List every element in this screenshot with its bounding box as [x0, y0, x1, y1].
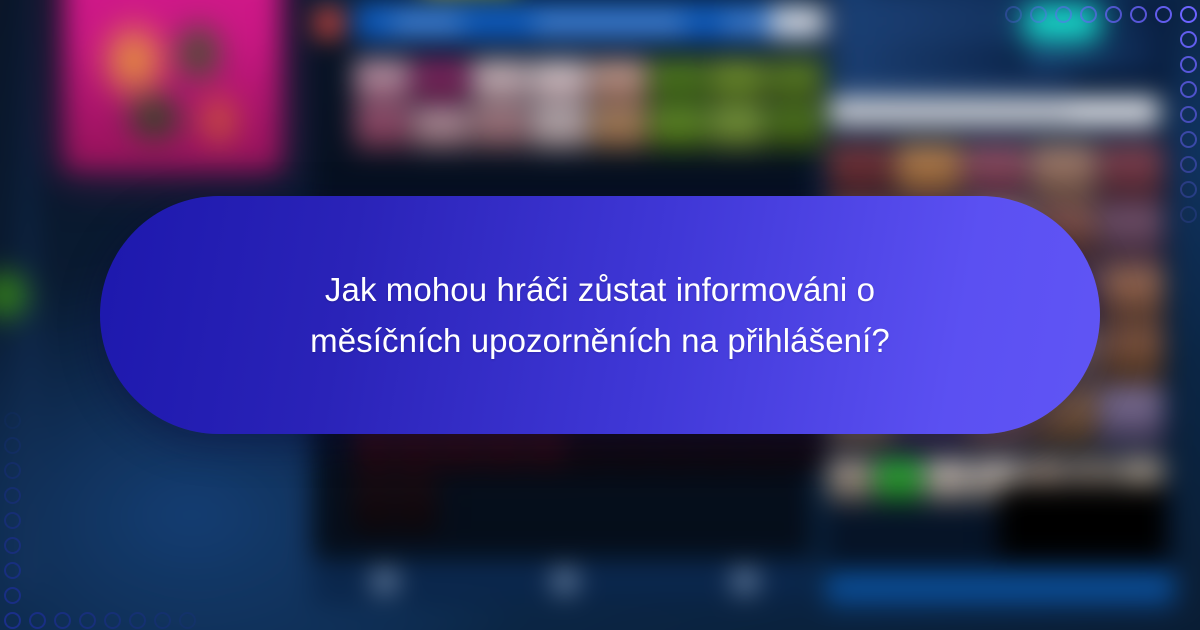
background-center-search: [770, 6, 832, 38]
background-right-black-tile: [998, 486, 1166, 558]
background-right-searchbar: [830, 98, 1160, 126]
question-title: Jak mohou hráči zůstat informováni o měs…: [310, 264, 890, 366]
background-poster-panel: [65, 0, 280, 170]
background-right-bottom-bar: [826, 572, 1174, 606]
background-right-teal-badge: [1026, 8, 1098, 38]
background-center-navbar: [354, 4, 814, 42]
background-center-thumb-grid: [354, 60, 824, 150]
question-card: Jak mohou hráči zůstat informováni o měs…: [100, 196, 1100, 434]
social-card-canvas: Jak mohou hráči zůstat informováni o měs…: [0, 0, 1200, 630]
background-center-red-badge: [316, 8, 342, 38]
background-right-rows: [826, 0, 1174, 106]
background-center-footer: [312, 560, 812, 602]
